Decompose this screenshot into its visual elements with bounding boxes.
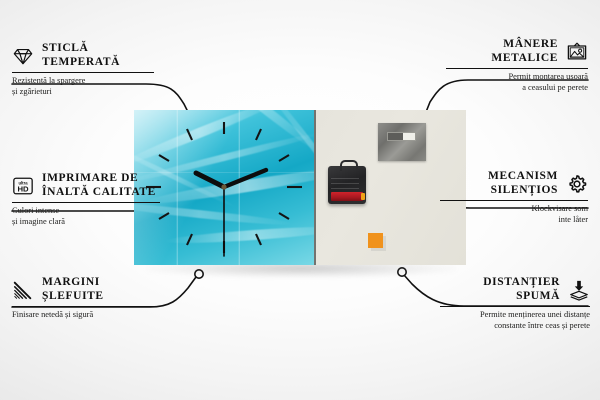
callout-title-line1: MÂNERE — [491, 38, 558, 52]
callout-title-line2: ȘLEFUITE — [42, 290, 104, 304]
callout-polished-edges: MARGINI ȘLEFUITE Finisare netedă și sigu… — [12, 276, 154, 321]
callout-subtitle-line1: Permit montarea ușoară — [446, 72, 588, 82]
callout-subtitle-line2: a ceasului pe perete — [446, 83, 588, 93]
callout-subtitle-line2: inte låter — [440, 215, 588, 225]
battery — [331, 192, 363, 201]
callout-title-line1: MECANISM — [488, 170, 558, 184]
callout-title-line2: SPUMĂ — [483, 290, 560, 304]
callout-rule — [12, 306, 154, 307]
callout-subtitle-line1: Finisare netedă și sigură — [12, 310, 154, 320]
ultra-hd-icon: ultra HD — [12, 175, 34, 197]
callout-subtitle-line1: Culori intense — [12, 206, 160, 216]
picture-frame-hanger-icon — [566, 41, 588, 63]
callout-hd-print: ultra HD IMPRIMARE DE ÎNALTĂ CALITATE Cu… — [12, 172, 160, 227]
gear-icon — [566, 173, 588, 195]
callout-title-line2: METALICE — [491, 52, 558, 66]
callout-tempered-glass: STICLĂ TEMPERATĂ Rezistentă la spargere … — [12, 42, 154, 97]
beveled-edges-icon — [12, 279, 34, 301]
mechanism-loop — [340, 160, 358, 171]
callout-rule — [446, 68, 588, 69]
foam-spacer — [368, 233, 383, 248]
foam-spacer-icon — [568, 279, 590, 301]
svg-text:HD: HD — [17, 184, 29, 193]
callout-title-line2: SILENȚIOS — [488, 184, 558, 198]
clock-face — [134, 110, 314, 265]
callout-rule — [440, 200, 588, 201]
callout-subtitle-line2: și zgârieturi — [12, 87, 154, 97]
callout-rule — [12, 202, 160, 203]
callout-metal-handles: MÂNERE METALICE Permit montarea ușoară a… — [446, 38, 588, 93]
callout-rule — [12, 72, 154, 73]
callout-subtitle-line2: și imagine clară — [12, 217, 160, 227]
callout-title-line1: MARGINI — [42, 276, 104, 290]
callout-subtitle-line1: Klockvisare som — [440, 204, 588, 214]
clock-front-panel — [134, 110, 314, 265]
callout-subtitle-line2: constante între ceas și perete — [440, 321, 590, 331]
product-photo — [134, 110, 466, 265]
callout-rule — [440, 306, 590, 307]
callout-foam-spacer: DISTANȚIER SPUMĂ Permite menținerea unei… — [440, 276, 590, 331]
callout-title-line1: DISTANȚIER — [483, 276, 560, 290]
diamond-icon — [12, 45, 34, 67]
callout-title-line1: STICLĂ — [42, 42, 120, 56]
callout-title-line2: ÎNALTĂ CALITATE — [42, 186, 156, 200]
callout-title-line1: IMPRIMARE DE — [42, 172, 156, 186]
callout-subtitle-line1: Rezistentă la spargere — [12, 76, 154, 86]
hanger-slot — [387, 132, 416, 141]
infographic-canvas: STICLĂ TEMPERATĂ Rezistentă la spargere … — [0, 0, 600, 400]
callout-silent-mechanism: MECANISM SILENȚIOS Klockvisare som inte … — [440, 170, 588, 225]
quartz-mechanism — [328, 166, 366, 204]
metal-hanger — [378, 123, 426, 161]
callout-subtitle-line1: Permite menținerea unei distanțe — [440, 310, 590, 320]
callout-title-line2: TEMPERATĂ — [42, 56, 120, 70]
